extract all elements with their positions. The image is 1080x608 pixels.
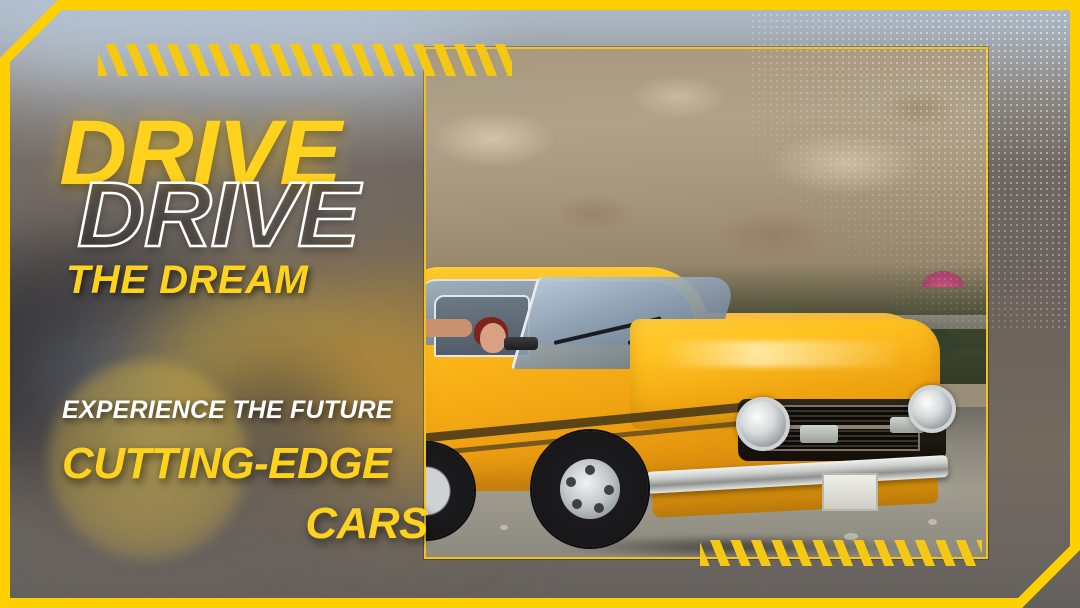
drive-stack: DRIVE DRIVE	[62, 112, 422, 262]
subhead-line-1: CUTTING-EDGE	[62, 439, 432, 489]
lug-nut	[594, 503, 604, 513]
side-mirror	[504, 337, 538, 350]
hero-photo-frame	[424, 47, 988, 559]
lug-nut	[566, 477, 576, 487]
headlight	[908, 385, 956, 433]
headlight	[736, 397, 790, 451]
lug-nut	[604, 485, 614, 495]
lug-nut	[572, 499, 582, 509]
turn-signal	[800, 425, 838, 443]
promo-banner: DRIVE DRIVE THE DREAM EXPERIENCE THE FUT…	[0, 0, 1080, 608]
license-plate	[822, 473, 878, 511]
driver-arm	[426, 319, 472, 337]
subhead-line-2: CARS	[62, 499, 432, 549]
headline-secondary: THE DREAM	[66, 258, 308, 303]
hood-highlight	[658, 341, 908, 367]
headline-group: DRIVE DRIVE	[62, 112, 422, 262]
driver-head	[480, 323, 506, 353]
lug-nut	[585, 465, 595, 475]
subhead-group: EXPERIENCE THE FUTURE CUTTING-EDGE CARS	[62, 396, 432, 549]
wheel-rim	[560, 459, 620, 519]
classic-car	[426, 267, 964, 557]
headline-echo-outline: DRIVE	[77, 174, 359, 257]
hero-photo	[426, 49, 986, 557]
kicker-text: EXPERIENCE THE FUTURE	[62, 396, 432, 425]
